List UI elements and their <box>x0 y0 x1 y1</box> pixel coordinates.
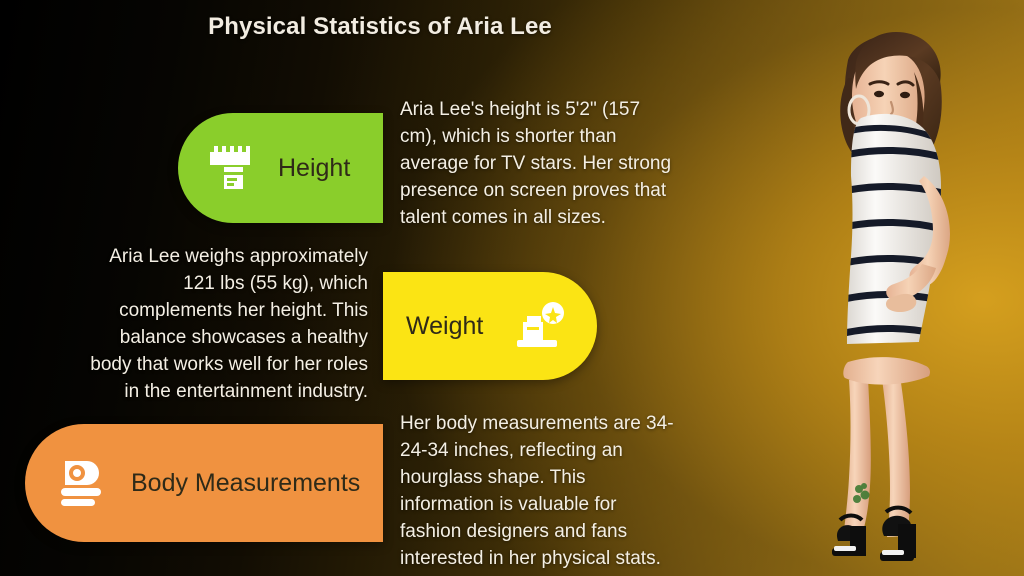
infographic-canvas: Physical Statistics of Aria Lee Heigh <box>0 0 1024 576</box>
card-weight-label: Weight <box>406 312 483 341</box>
card-body-measurements[interactable]: Body Measurements <box>25 424 383 542</box>
card-height-description: Aria Lee's height is 5'2" (157 cm), whic… <box>400 96 682 231</box>
ruler-icon <box>204 142 256 194</box>
card-body-measurements-label: Body Measurements <box>131 469 360 498</box>
card-body-measurements-description: Her body measurements are 34-24-34 inche… <box>400 410 682 572</box>
avatar <box>728 0 1024 576</box>
card-weight[interactable]: Weight <box>383 272 597 380</box>
card-weight-description: Aria Lee weighs approximately 121 lbs (5… <box>88 243 368 405</box>
tape-measure-icon <box>55 455 111 511</box>
weight-scale-icon <box>513 300 565 352</box>
card-height-label: Height <box>278 154 350 183</box>
page-title: Physical Statistics of Aria Lee <box>0 13 760 41</box>
card-height[interactable]: Height <box>178 113 383 223</box>
